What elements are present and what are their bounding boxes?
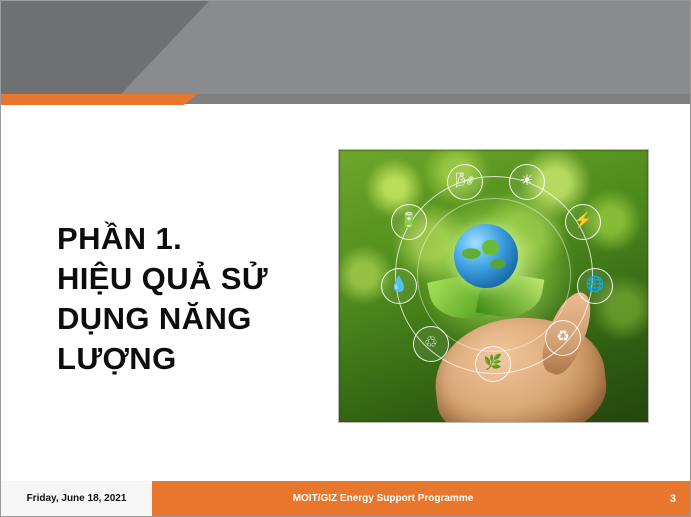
footer-date: Friday, June 18, 2021 [1,481,153,516]
header-decorative-band [1,1,691,104]
slide-image: ☀ ⚡ 🌐 ♻ 🌿 ♲ 💧 🔋 🌬 [338,149,649,423]
node-global-icon: 🌐 [577,268,613,304]
footer-page-number: 3 [670,481,676,516]
slide: PHẦN 1. HIỆU QUẢ SỬ DỤNG NĂNG LƯỢNG ☀ ⚡ … [0,0,691,517]
page-title: PHẦN 1. HIỆU QUẢ SỬ DỤNG NĂNG LƯỢNG [57,219,327,379]
node-wind-icon: 🌬 [447,164,483,200]
node-battery-icon: 🔋 [391,204,427,240]
node-recycle-icon: ♻ [545,320,581,356]
node-sun-icon: ☀ [509,164,545,200]
title-block: PHẦN 1. HIỆU QUẢ SỬ DỤNG NĂNG LƯỢNG [57,219,327,379]
node-water-icon: 💧 [381,268,417,304]
node-energy-icon: ⚡ [565,204,601,240]
footer-title: MOIT/GIZ Energy Support Programme [153,481,613,516]
slide-footer: Friday, June 18, 2021 MOIT/GIZ Energy Su… [1,481,691,516]
node-recycle-alt-icon: ♲ [413,326,449,362]
node-leaf-icon: 🌿 [475,346,511,382]
